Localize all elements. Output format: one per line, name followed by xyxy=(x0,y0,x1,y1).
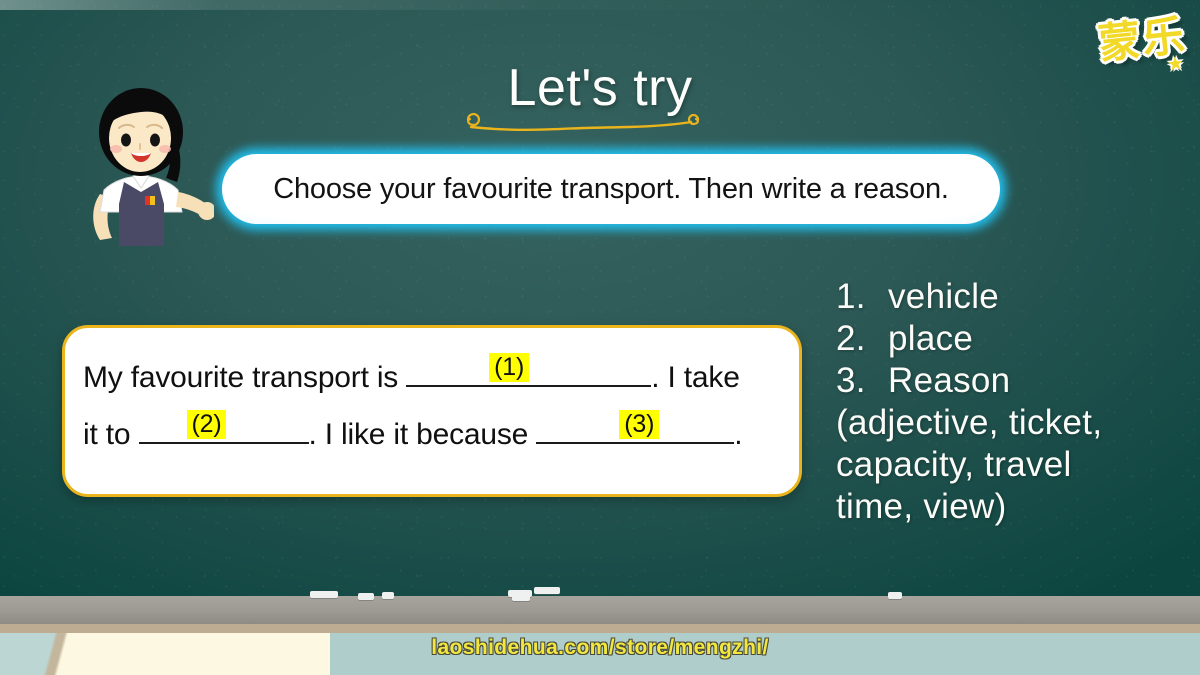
sentence-frame-card: My favourite transport is (1). I take it… xyxy=(62,325,802,497)
hint-item-number: 1. xyxy=(836,276,888,318)
sentence-line-1-after: . I take xyxy=(651,361,739,394)
sentence-line-2-after: . xyxy=(734,418,742,451)
bubble-body: Choose your favourite transport. Then wr… xyxy=(222,154,1000,224)
sentence-line-2: it to (2). I like it because (3). xyxy=(83,418,789,452)
answer-blank-2-tag: (2) xyxy=(187,410,227,439)
chalk-piece xyxy=(358,593,374,600)
answer-blank-2[interactable]: (2) xyxy=(139,442,309,444)
instruction-bubble: Choose your favourite transport. Then wr… xyxy=(216,148,1006,230)
chalk-piece xyxy=(512,594,530,601)
chalkboard-ledge xyxy=(0,596,1200,624)
chalk-piece xyxy=(534,587,560,594)
character-illustration xyxy=(78,86,214,250)
hint-item: 3.Reason xyxy=(836,360,1176,402)
answer-blank-3[interactable]: (3) xyxy=(536,442,734,444)
title-flourish-divider xyxy=(458,108,708,134)
chalk-piece xyxy=(382,592,394,599)
footer-url[interactable]: laoshidehua.com/store/mengzhi/ xyxy=(0,636,1200,660)
slide-canvas: 蒙乐 ★ Let's try xyxy=(0,0,1200,675)
hint-item-number: 2. xyxy=(836,318,888,360)
sentence-line-2-before: it to xyxy=(83,418,139,451)
chalkboard-ledge-lip xyxy=(0,624,1200,633)
hint-detail-line: time, view) xyxy=(836,486,1176,528)
instruction-text: Choose your favourite transport. Then wr… xyxy=(273,173,949,206)
hint-list: 1.vehicle2.place3.Reason (adjective, tic… xyxy=(836,276,1176,528)
sentence-line-2-middle: . I like it because xyxy=(309,418,537,451)
hint-detail-line: (adjective, ticket, xyxy=(836,402,1176,444)
hint-item-number: 3. xyxy=(836,360,888,402)
chalkboard-top-sheen xyxy=(0,0,1200,10)
hint-item-label: vehicle xyxy=(888,276,999,318)
answer-blank-1-tag: (1) xyxy=(489,353,529,382)
hint-item: 1.vehicle xyxy=(836,276,1176,318)
sentence-line-1: My favourite transport is (1). I take xyxy=(83,361,789,395)
hint-item-label: place xyxy=(888,318,973,360)
hint-item: 2.place xyxy=(836,318,1176,360)
answer-blank-3-tag: (3) xyxy=(619,410,659,439)
hint-item-label: Reason xyxy=(888,360,1010,402)
chalk-piece xyxy=(888,592,902,599)
answer-blank-1[interactable]: (1) xyxy=(406,385,651,387)
hint-detail-line: capacity, travel xyxy=(836,444,1176,486)
chalk-piece xyxy=(310,591,338,598)
sentence-line-1-before: My favourite transport is xyxy=(83,361,406,394)
